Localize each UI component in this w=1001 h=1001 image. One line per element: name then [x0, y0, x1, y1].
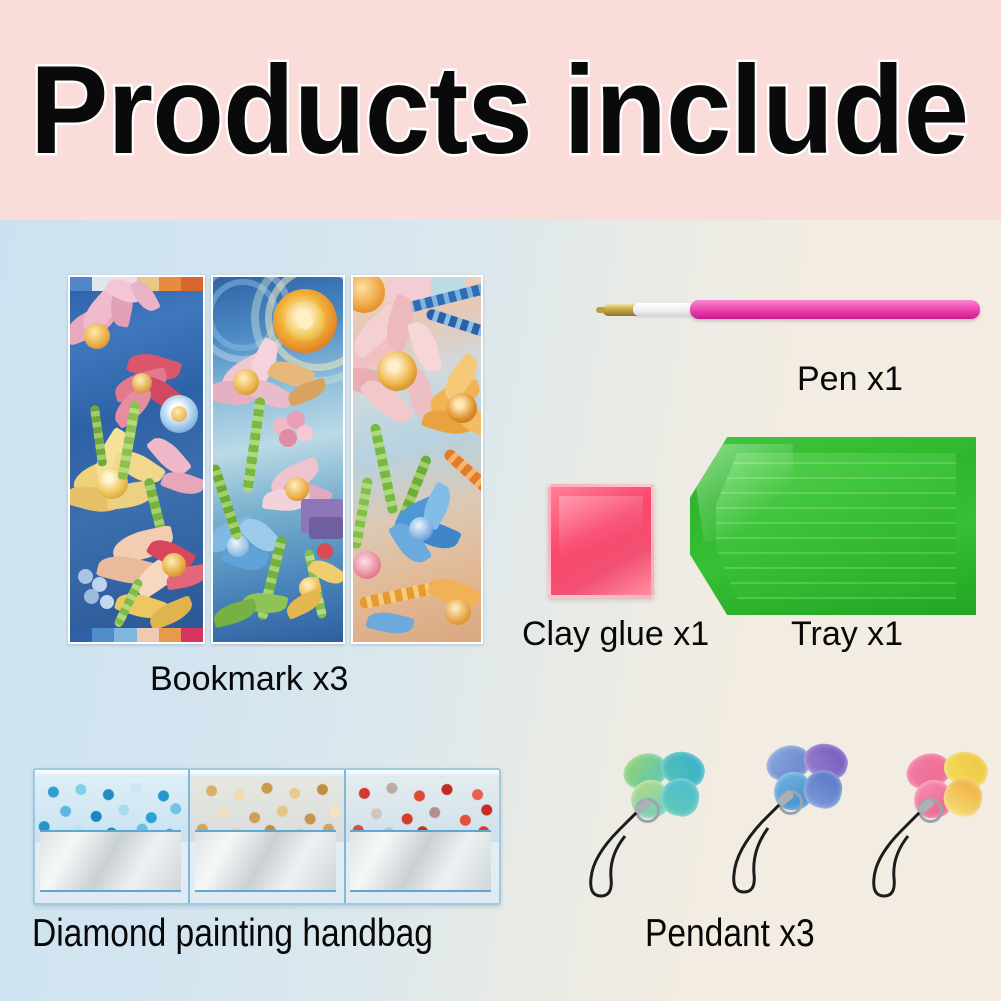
caption-clay-glue: Clay glue x1 [522, 615, 709, 654]
tray-image [690, 437, 976, 615]
pendant-image-3 [868, 752, 998, 902]
header-banner: Products include [0, 0, 1001, 220]
handbag-compartment-blue [35, 770, 190, 903]
handbag-foil-label [350, 830, 491, 893]
bookmark-artwork-2 [213, 277, 343, 642]
pen-grip [633, 303, 695, 316]
bookmark-artwork-3 [353, 277, 481, 642]
bookmark-image-1 [68, 275, 205, 644]
caption-pen: Pen x1 [797, 360, 903, 399]
pen-barrel [690, 300, 980, 319]
caption-handbag: Diamond painting handbag [32, 912, 433, 956]
caption-bookmark: Bookmark x3 [150, 660, 348, 699]
bookmark-image-3 [351, 275, 483, 644]
pendant-cord [728, 796, 798, 896]
pendant-image-2 [728, 744, 858, 894]
handbag-foil-label [195, 830, 336, 893]
page-title: Products include [30, 53, 968, 168]
handbag-image [33, 768, 501, 905]
handbag-foil-label [40, 830, 181, 893]
product-infographic: Products include [0, 0, 1001, 1001]
handbag-compartment-red [346, 770, 499, 903]
pendant-cord [585, 804, 655, 900]
pendant-cord [868, 804, 938, 900]
bookmark-image-2 [211, 275, 345, 644]
handbag-compartment-gold [190, 770, 345, 903]
pendant-image-1 [585, 752, 715, 902]
pen-image [595, 295, 985, 325]
caption-tray: Tray x1 [791, 615, 903, 654]
caption-pendant: Pendant x3 [645, 912, 815, 956]
bookmark-artwork-1 [70, 277, 203, 642]
clay-glue-image [548, 484, 654, 598]
